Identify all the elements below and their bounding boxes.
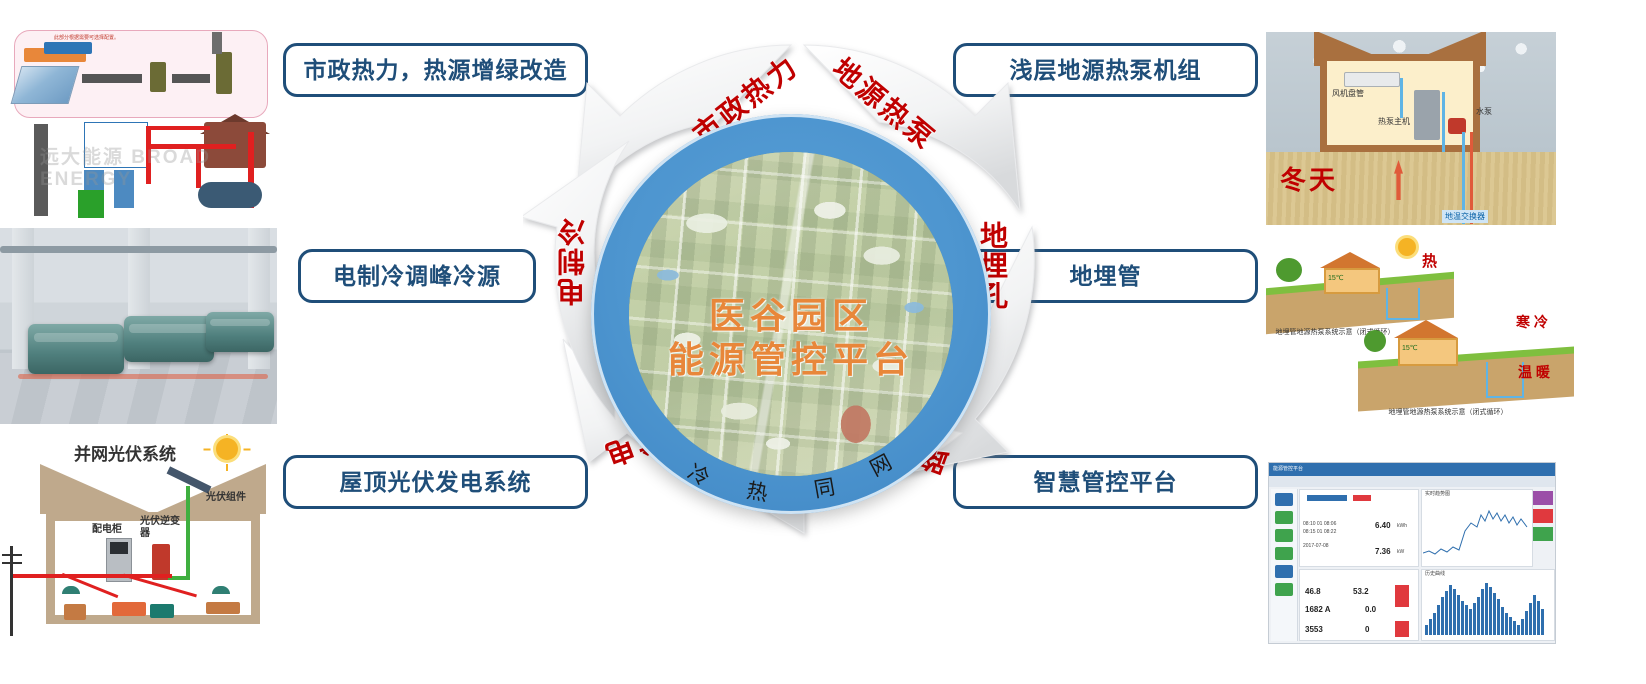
stack-arrow-icon (212, 32, 222, 54)
pole-arm-2 (2, 562, 22, 564)
metric-1-unit: kWh (1397, 523, 1407, 529)
nav-icon-3[interactable] (1275, 529, 1293, 542)
image-energy-scada-dashboard: 能源管控平台 08:10 01 08:06 08:15 01 08:22 6.4… (1268, 462, 1556, 644)
legend-chip-red (1533, 509, 1553, 523)
label-text: 屋顶光伏发电系统 (340, 471, 532, 494)
image-buried-pipe-ground-source-system: 热 15℃ 地埋管地源热泵系统示意（闭式循环） 寒 冷 温 暖 15℃ 地埋管地… (1266, 232, 1576, 430)
pole-arm-1 (2, 554, 22, 556)
metric-2-label: 2017-07-08 (1303, 543, 1329, 549)
chiller-unit-1 (28, 324, 124, 374)
metric-2-value: 7.36 (1375, 547, 1391, 556)
ceiling-pipe (0, 246, 277, 253)
nav-icon-4[interactable] (1275, 547, 1293, 560)
dashboard-header-title: 能源管控平台 (1273, 466, 1303, 472)
furniture-table (206, 602, 240, 614)
reading-alarm-chip-2 (1395, 621, 1409, 637)
caption-winter: 地埋管地源热泵系统示意（闭式循环） (1378, 408, 1518, 417)
solar-collector-icon (11, 66, 80, 104)
temperature-label: 15℃ (1402, 344, 1418, 352)
storage-tank-green (78, 190, 104, 218)
slide-canvas: 此部分根据需要可选择配置。 远大能源 BROAD ENERGY (0, 0, 1646, 684)
image-winter-ground-source-heat-pump: 风机盘管 热泵主机 水泵 冬天 地温交换器 (1266, 32, 1556, 225)
label-electric-chiller-peak-source[interactable]: 电制冷调峰冷源 (298, 249, 536, 303)
flow-arrow-2 (172, 74, 210, 83)
history-bar-chart (1425, 581, 1544, 635)
label-warm: 温 暖 (1518, 362, 1550, 382)
trend-chart-title: 实时趋势图 (1425, 491, 1450, 497)
reading-d: 0.0 (1365, 605, 1376, 614)
chiller-unit-2 (124, 316, 214, 362)
dc-cable-vertical (186, 486, 190, 580)
furniture-desk (64, 604, 86, 620)
label-pv-module: 光伏组件 (206, 492, 246, 504)
history-chart-title: 历史曲线 (1425, 571, 1445, 577)
legend-chip-purple (1533, 491, 1553, 505)
nav-icon-1[interactable] (1275, 493, 1293, 506)
label-water-pump: 水泵 (1476, 106, 1492, 117)
label-cold: 寒 冷 (1516, 312, 1548, 332)
schematic-chip-blue (44, 42, 92, 54)
reading-c: 1682 A (1305, 605, 1331, 614)
trend-sparkline-svg (1423, 501, 1529, 561)
schematic-note-text: 此部分根据需要可选择配置。 (54, 34, 119, 41)
reading-e: 3553 (1305, 625, 1323, 634)
house-roof (40, 464, 266, 514)
chilled-pipe-1 (1400, 78, 1403, 118)
utility-pole (10, 546, 13, 636)
label-heat: 热 (1422, 250, 1437, 271)
fan-coil-unit-icon (1344, 72, 1400, 87)
red-floor-pipe (18, 374, 268, 379)
map-overlay (629, 152, 953, 476)
lamp-1 (62, 586, 80, 594)
tree-icon (1276, 258, 1302, 282)
house-roof-icon (1394, 320, 1458, 338)
energy-cycle-diagram: 市政热力 地源热泵 地埋孔 路灯智能控制 采光发电 电制冷 医谷园区 能源管控平… (523, 21, 1060, 663)
image-grid-connected-pv-system-diagram: 并网光伏系统 配电柜 光伏逆变器 光伏组件 (0, 434, 290, 640)
sun-icon (1398, 238, 1416, 256)
chilled-pipe-2 (1442, 92, 1445, 152)
metric-alarm-chip (1353, 495, 1371, 501)
nav-icon-5[interactable] (1275, 565, 1293, 578)
aerial-map-core: 医谷园区 能源管控平台 (629, 152, 953, 476)
pv-diagram-title: 并网光伏系统 (74, 440, 176, 465)
label-distribution-cabinet: 配电柜 (92, 524, 122, 536)
metric-1-value: 6.40 (1375, 521, 1391, 530)
nav-icon-2[interactable] (1275, 511, 1293, 524)
hot-water-pipe-1 (150, 126, 210, 130)
season-label-winter: 冬天 (1280, 160, 1338, 197)
lamp-2 (212, 586, 230, 594)
furniture-tv (150, 604, 174, 618)
metric-time-1: 08:10 01 08:06 (1303, 521, 1336, 527)
reading-a: 46.8 (1305, 587, 1321, 596)
reheater-box (150, 62, 166, 92)
arrow-label-electric-cooling: 电制冷 (553, 216, 593, 306)
trend-sparkline (1423, 501, 1529, 561)
image-flue-gas-heat-recovery-schematic: 此部分根据需要可选择配置。 远大能源 BROAD ENERGY (0, 22, 277, 218)
dashboard-nav-bar (1269, 476, 1555, 487)
metric-time-2: 08:15 01 08:22 (1303, 529, 1336, 535)
chiller-unit-3 (206, 312, 274, 352)
label-ground-exchanger: 地温交换器 (1442, 210, 1488, 223)
sun-ray-4 (244, 449, 251, 451)
sun-icon (216, 438, 238, 460)
ac-grid-line (12, 574, 172, 578)
blue-ring: 医谷园区 能源管控平台 (591, 114, 991, 514)
heat-pump-unit-icon (1414, 90, 1440, 140)
temperature-label: 15℃ (1328, 274, 1344, 282)
label-text: 地埋管 (1070, 265, 1142, 288)
dashboard-header-bar (1269, 463, 1555, 476)
label-fan-coil-unit: 风机盘管 (1332, 88, 1364, 99)
scene-winter: 寒 冷 温 暖 15℃ (1358, 308, 1574, 404)
furniture-sofa (112, 602, 146, 616)
metric-2-unit: kW (1397, 549, 1404, 555)
metric-field-1 (1307, 495, 1347, 501)
label-heat-pump-unit: 热泵主机 (1378, 116, 1410, 127)
reading-f: 0 (1365, 625, 1369, 634)
reading-alarm-chip-1 (1395, 585, 1409, 607)
sun-ray-1 (226, 434, 228, 435)
label-pv-inverter: 光伏逆变器 (140, 516, 180, 540)
sun-ray-3 (204, 449, 211, 451)
tree-icon (1364, 330, 1386, 352)
dashboard-side-nav (1271, 489, 1298, 641)
legend-chip-green (1533, 527, 1553, 541)
nav-icon-6[interactable] (1275, 583, 1293, 596)
watermark-text: 远大能源 BROAD ENERGY (40, 142, 277, 191)
house-icon (1398, 338, 1458, 366)
anti-freeze-stack-box (216, 52, 232, 94)
label-text: 电制冷调峰冷源 (333, 265, 501, 288)
flow-arrow-1 (82, 74, 142, 83)
roof-left-slope (40, 464, 153, 514)
reading-b: 53.2 (1353, 587, 1369, 596)
image-chiller-plant-room-photo (0, 228, 277, 424)
house-roof-icon (1320, 252, 1380, 268)
